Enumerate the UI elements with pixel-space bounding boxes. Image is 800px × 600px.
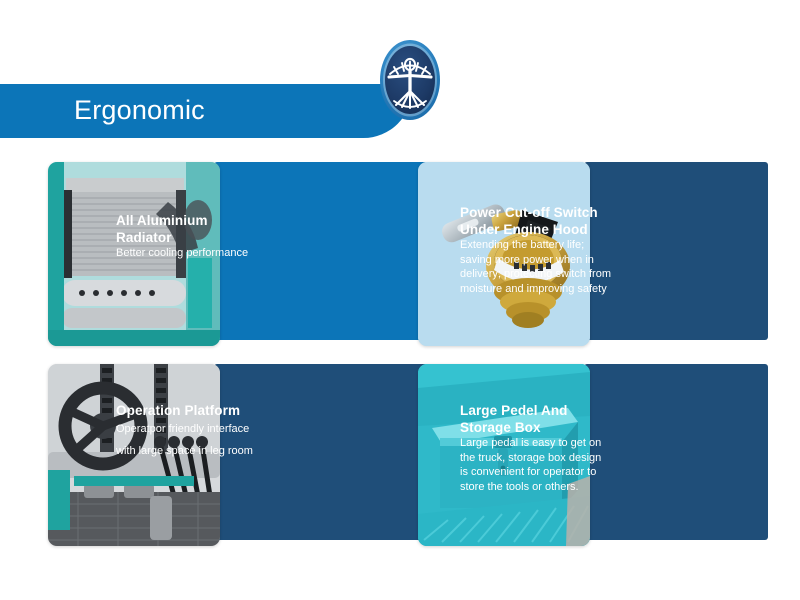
- card-body: Better cooling performance: [116, 246, 256, 261]
- card-body-paragraph: Large pedal is easy to get on the truck,…: [460, 436, 612, 494]
- card-body: Large pedal is easy to get on the truck,…: [460, 436, 612, 494]
- card-title: Large Pedel And Storage Box: [460, 402, 612, 436]
- feature-card-large-pedel-storage-box[interactable]: Large Pedel And Storage Box Large pedal …: [418, 364, 768, 546]
- card-body: Operatpor friendly interface with large …: [116, 422, 266, 458]
- card-body-paragraph: with large space in leg room: [116, 444, 266, 459]
- header-banner-bar: [0, 84, 412, 138]
- card-body: Extending the battery life; saving more …: [460, 238, 612, 296]
- card-body-paragraph: Extending the battery life; saving more …: [460, 238, 612, 296]
- card-title: Operation Platform: [116, 402, 266, 419]
- feature-card-operation-platform[interactable]: Operation Platform Operatpor friendly in…: [48, 364, 380, 546]
- card-title: Power Cut-off Switch Under Engine Hood: [460, 204, 610, 238]
- slide-page: Ergonomic: [0, 0, 800, 600]
- vitruvian-man-logo: [372, 37, 448, 123]
- feature-card-power-cut-off-switch[interactable]: Power Cut-off Switch Under Engine Hood E…: [418, 162, 768, 346]
- card-title: All Aluminium Radiator: [116, 212, 256, 246]
- page-title: Ergonomic: [74, 84, 205, 138]
- feature-card-all-aluminium-radiator[interactable]: All Aluminium Radiator Better cooling pe…: [48, 162, 380, 346]
- card-body-paragraph: Better cooling performance: [116, 246, 256, 261]
- page-header: Ergonomic: [0, 84, 412, 138]
- card-body-paragraph: Operatpor friendly interface: [116, 422, 266, 437]
